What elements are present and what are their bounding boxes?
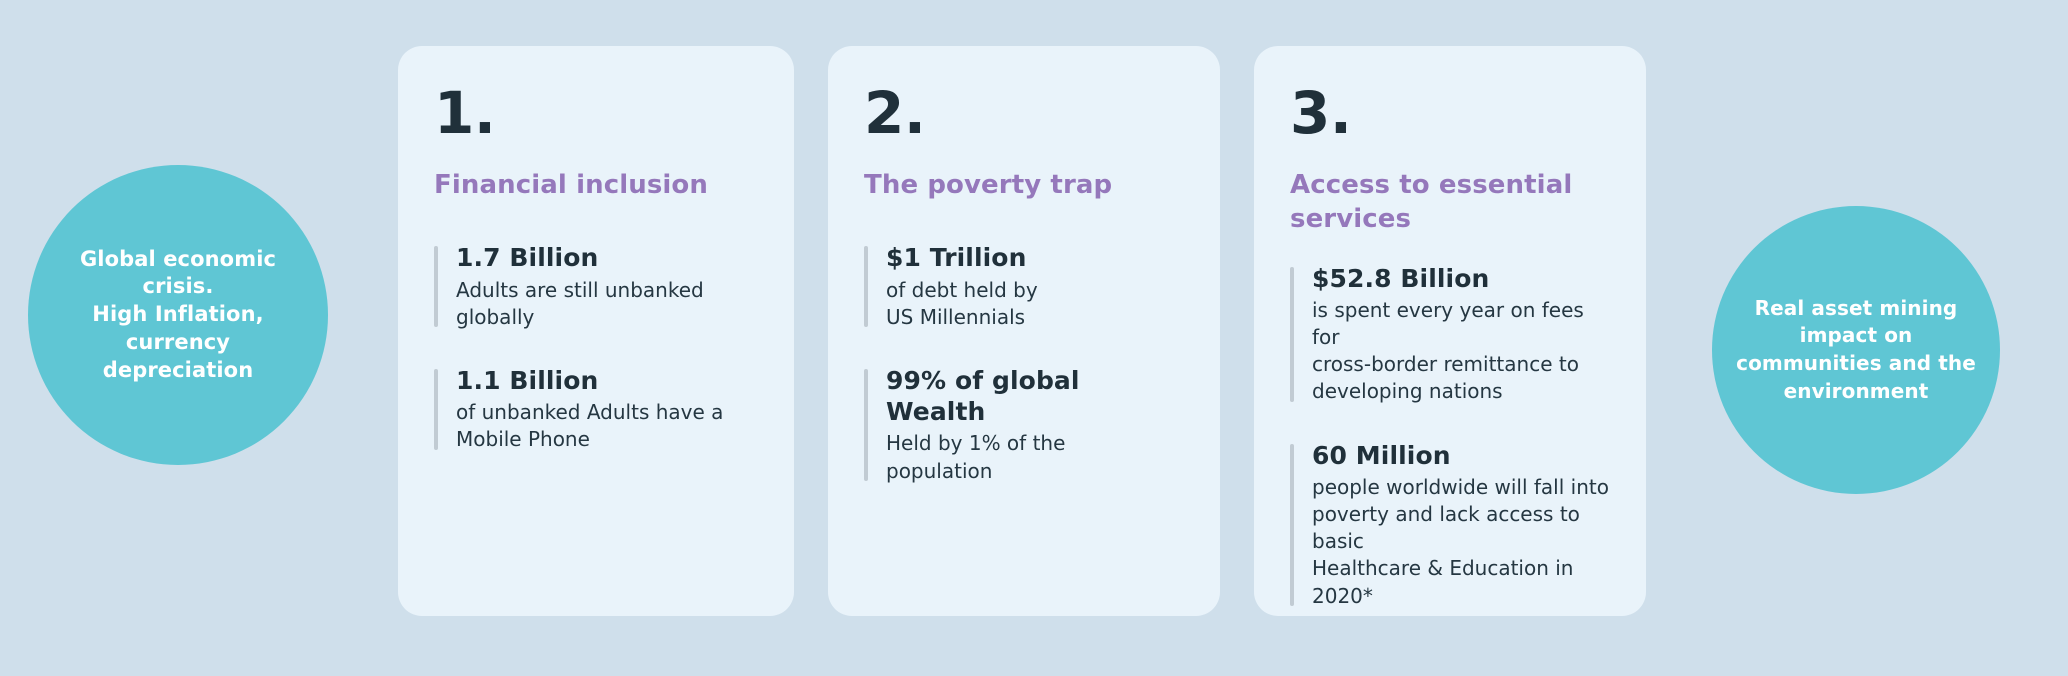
stat-value: 60 Million [1312,440,1610,471]
infographic-canvas: Global economic crisis. High Inflation, … [0,0,2068,676]
stat-description: of unbanked Adults have a Mobile Phone [456,399,758,453]
card-3-number: 3. [1290,84,1610,142]
stat-value: 1.1 Billion [456,365,758,396]
right-context-circle: Real asset mining impact on communities … [1712,206,2000,494]
stat-description: of debt held by US Millennials [886,277,1184,331]
stat-description: people worldwide will fall into poverty … [1312,474,1610,610]
card-access-to-essential-services: 3. Access to essential services $52.8 Bi… [1254,46,1646,616]
stat-value: 1.7 Billion [456,242,758,273]
stat-item: $1 Trillion of debt held by US Millennia… [864,242,1184,331]
stat-item: 1.7 Billion Adults are still unbanked gl… [434,242,758,331]
stat-description: Held by 1% of the population [886,430,1184,484]
card-2-title: The poverty trap [864,168,1184,202]
card-financial-inclusion: 1. Financial inclusion 1.7 Billion Adult… [398,46,794,616]
stat-description: is spent every year on fees for cross-bo… [1312,297,1610,406]
stat-description: Adults are still unbanked globally [456,277,758,331]
accent-bar [1290,267,1294,402]
card-1-number: 1. [434,84,758,142]
stat-item: 60 Million people worldwide will fall in… [1290,440,1610,610]
left-context-circle: Global economic crisis. High Inflation, … [28,165,328,465]
stat-item: $52.8 Billion is spent every year on fee… [1290,263,1610,406]
card-2-number: 2. [864,84,1184,142]
accent-bar [1290,444,1294,606]
stat-item: 1.1 Billion of unbanked Adults have a Mo… [434,365,758,454]
stat-value: 99% of global Wealth [886,365,1184,428]
card-3-title: Access to essential services [1290,168,1610,237]
card-1-title: Financial inclusion [434,168,758,202]
accent-bar [864,246,868,327]
stat-value: $1 Trillion [886,242,1184,273]
accent-bar [434,369,438,450]
accent-bar [864,369,868,481]
card-poverty-trap: 2. The poverty trap $1 Trillion of debt … [828,46,1220,616]
stat-item: 99% of global Wealth Held by 1% of the p… [864,365,1184,485]
left-circle-text: Global economic crisis. High Inflation, … [62,246,294,385]
right-circle-text: Real asset mining impact on communities … [1718,295,1994,405]
stat-value: $52.8 Billion [1312,263,1610,294]
accent-bar [434,246,438,327]
